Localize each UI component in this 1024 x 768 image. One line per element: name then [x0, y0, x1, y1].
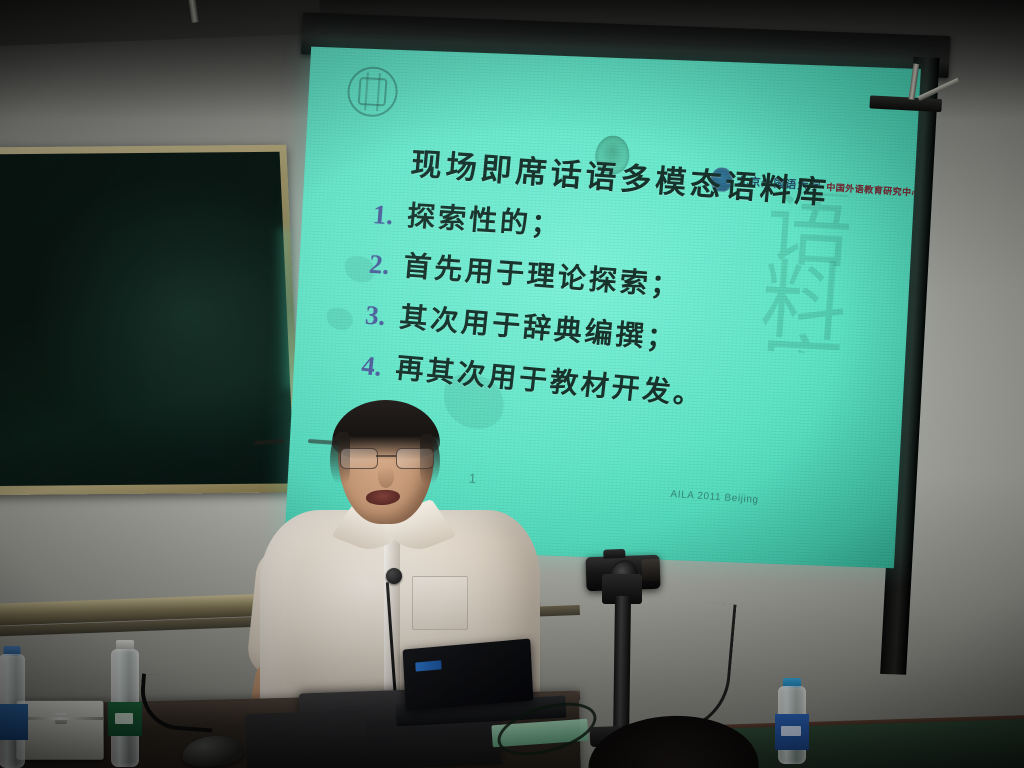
laptop-logo-icon: [415, 660, 441, 671]
glasses-bridge: [376, 455, 396, 457]
camera-viewfinder: [603, 549, 625, 559]
desk-equipment: [245, 710, 367, 768]
laptop-computer: [403, 638, 534, 711]
glasses-icon: [340, 448, 434, 468]
water-bottle: [108, 640, 142, 768]
shirt-pocket: [412, 576, 468, 630]
eyebrow-left: [254, 439, 284, 445]
screen-mount-bracket: [891, 81, 949, 118]
water-bottle: [0, 646, 28, 768]
ceiling-pipe: [188, 0, 199, 23]
bottle-label: [0, 704, 28, 740]
glasses-lens-left: [340, 448, 378, 469]
camera-grip: [642, 559, 661, 582]
eyebrow-right: [308, 439, 338, 445]
nose: [378, 466, 394, 488]
glasses-lens-right: [396, 448, 434, 469]
case-latch: [55, 713, 67, 724]
lecture-photo: 北京外国语大学 中国外语教育研究中心 语料库 现场即席话语多模态语料库 1. 探…: [0, 0, 1024, 768]
bottle-label: [775, 714, 809, 750]
bottle-label: [108, 702, 142, 736]
metal-equipment-case: [16, 700, 104, 760]
water-bottle: [775, 678, 809, 764]
